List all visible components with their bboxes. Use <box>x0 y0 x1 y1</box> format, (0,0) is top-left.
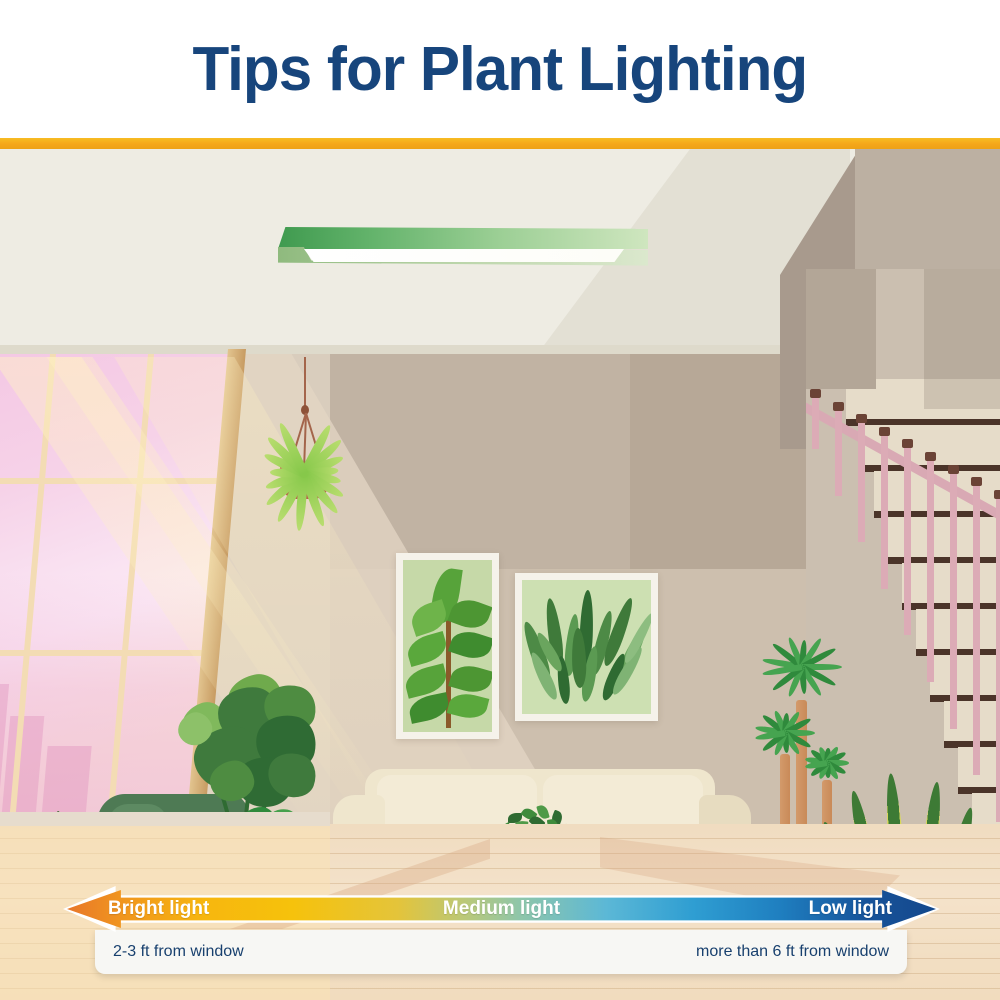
baluster <box>904 443 911 635</box>
baluster <box>996 494 1000 822</box>
legend-caption-box: 2-3 ft from window more than 6 ft from w… <box>95 930 907 974</box>
baluster <box>812 393 819 449</box>
label-low-light: Low light <box>809 898 892 920</box>
baluster-cap <box>879 427 890 436</box>
arrow-labels: Bright light Medium light Low light <box>63 886 940 932</box>
baluster <box>835 406 842 496</box>
window-mullion-horizontal <box>0 478 229 484</box>
baluster <box>950 469 957 729</box>
baluster-cap <box>833 402 844 411</box>
baluster <box>858 418 865 542</box>
stair-riser <box>930 655 1000 695</box>
header: Tips for Plant Lighting <box>0 0 1000 138</box>
caption-left: 2-3 ft from window <box>113 943 244 961</box>
room-illustration <box>0 149 1000 1000</box>
baluster-cap <box>925 452 936 461</box>
hanging-spider-plant <box>260 357 350 497</box>
baluster-cap <box>856 414 867 423</box>
light-panel-frame <box>278 227 648 249</box>
light-panel-glow <box>304 249 624 262</box>
baluster-cap <box>994 490 1000 499</box>
baluster <box>973 481 980 775</box>
infographic-root: Tips for Plant Lighting <box>0 0 1000 1000</box>
baseboard <box>0 812 330 826</box>
light-gradient-arrow: Bright light Medium light Low light <box>63 886 940 932</box>
framed-leaf-print-right <box>515 573 658 721</box>
baluster-cap <box>902 439 913 448</box>
stair-landing-wall <box>806 269 876 389</box>
baluster-cap <box>810 389 821 398</box>
caption-right: more than 6 ft from window <box>696 943 889 961</box>
art-frame <box>515 573 658 721</box>
baluster <box>927 456 934 682</box>
stair-wall-shadow <box>924 269 1000 409</box>
framed-leaf-print-left <box>396 553 499 739</box>
art-frame <box>396 553 499 739</box>
window-mullion-horizontal <box>0 650 214 656</box>
light-level-legend: 2-3 ft from window more than 6 ft from w… <box>0 886 1000 1000</box>
palm-crown <box>827 760 828 761</box>
hanger-cord <box>304 357 306 409</box>
baluster-cap <box>948 465 959 474</box>
header-divider-bar <box>0 138 1000 149</box>
baluster-cap <box>971 477 982 486</box>
ceiling-light-panel <box>278 227 648 279</box>
palm-crown <box>785 730 786 731</box>
palm-crown <box>802 664 803 665</box>
baluster <box>881 431 888 589</box>
page-title: Tips for Plant Lighting <box>193 34 808 105</box>
